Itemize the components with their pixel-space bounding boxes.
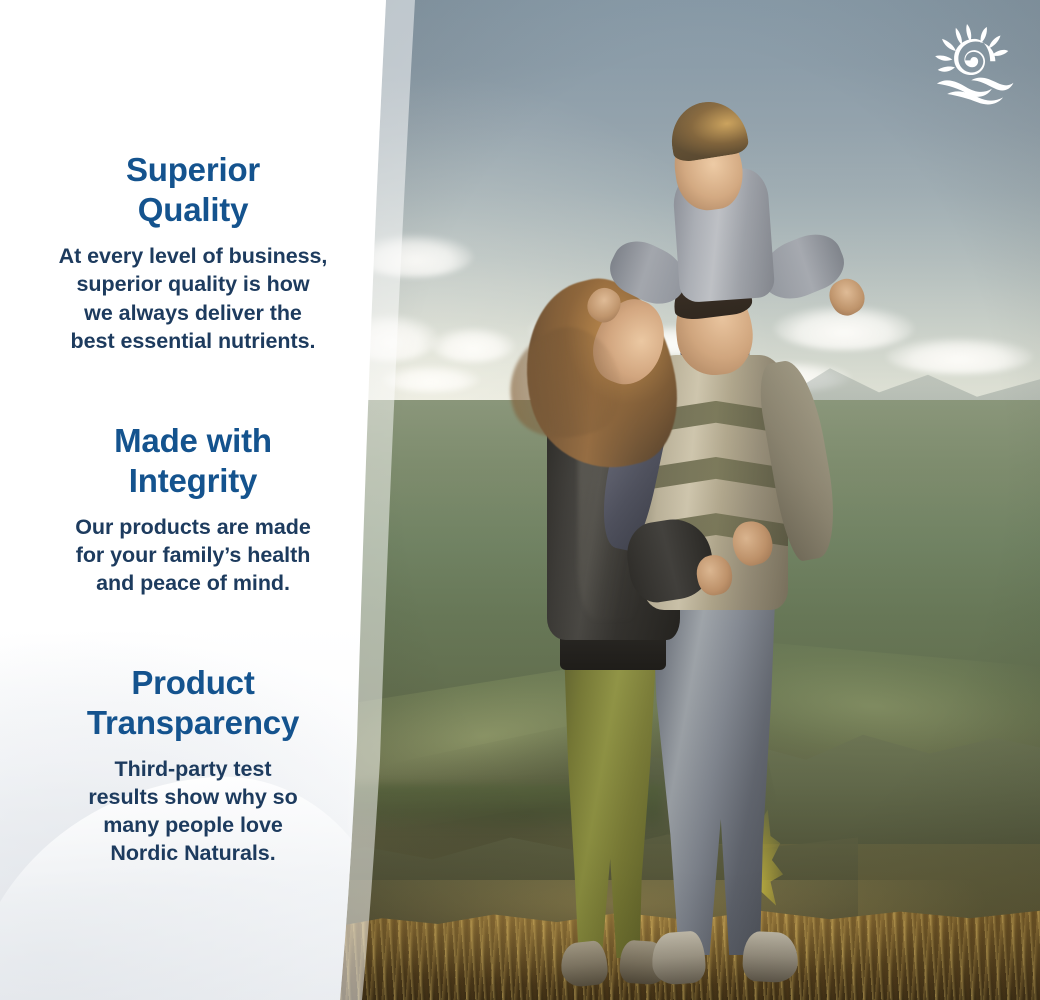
family-mountain-photo <box>340 0 1040 1000</box>
value-title: Superior Quality <box>18 150 368 230</box>
woman-shoe <box>559 940 610 989</box>
value-body: Third-party test results show why so man… <box>18 755 368 868</box>
value-title: Made with Integrity <box>18 421 368 501</box>
values-content: Superior Quality At every level of busin… <box>0 0 380 1000</box>
value-body: Our products are made for your family’s … <box>18 513 368 597</box>
vest-chevron-stripe <box>644 457 788 490</box>
nordic-naturals-logo <box>930 20 1016 106</box>
sun-wave-logo-icon <box>930 20 1016 106</box>
brand-values-panel: Superior Quality At every level of busin… <box>0 0 1040 1000</box>
man-shoe <box>650 930 707 986</box>
woman-legs <box>556 648 661 958</box>
value-block-made-with-integrity: Made with Integrity Our products are mad… <box>18 421 368 597</box>
value-block-product-transparency: Product Transparency Third-party test re… <box>18 663 368 867</box>
value-body: At every level of business, superior qua… <box>18 242 368 355</box>
value-title: Product Transparency <box>18 663 368 743</box>
family-group <box>340 0 1040 1000</box>
value-block-superior-quality: Superior Quality At every level of busin… <box>18 150 368 354</box>
man-shoe <box>742 931 799 984</box>
photo-inner <box>340 0 1040 1000</box>
